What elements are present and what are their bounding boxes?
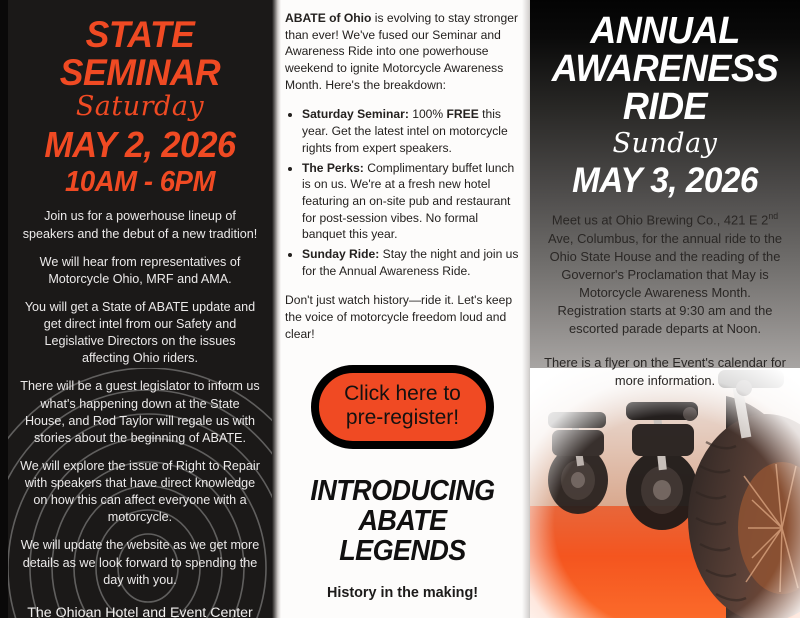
- flyer-canvas: STATE SEMINAR Saturday MAY 2, 2026 10AM …: [0, 0, 800, 618]
- bullet-label-the-perks: The Perks:: [302, 161, 364, 175]
- ride-details-part1: Meet us at Ohio Brewing Co., 421 E 2: [552, 213, 768, 228]
- left-paragraph-5: We will explore the issue of Right to Re…: [20, 458, 260, 527]
- seminar-time: 10AM - 6PM: [26, 167, 254, 197]
- pre-register-button[interactable]: Click here to pre-register!: [311, 365, 494, 449]
- intro-paragraph: ABATE of Ohio is evolving to stay strong…: [285, 10, 520, 93]
- closing-paragraph: Don't just watch history—ride it. Let's …: [285, 292, 520, 342]
- list-item: Sunday Ride: Stay the night and join us …: [302, 246, 520, 279]
- left-column-panel: STATE SEMINAR Saturday MAY 2, 2026 10AM …: [8, 0, 272, 618]
- left-paragraph-2: We will hear from representatives of Mot…: [20, 254, 260, 288]
- bullet-label-saturday-seminar: Saturday Seminar:: [302, 107, 409, 121]
- ride-details-part2: Ave, Columbus, for the annual ride to th…: [548, 231, 782, 336]
- saturday-script-label: Saturday: [20, 92, 260, 122]
- bullet-label-sunday-ride: Sunday Ride:: [302, 247, 379, 261]
- abate-legends-section: INTRODUCING ABATE LEGENDS History in the…: [285, 477, 520, 618]
- left-paragraph-1: Join us for a powerhouse lineup of speak…: [20, 208, 260, 242]
- list-item: Saturday Seminar: 100% FREE this year. G…: [302, 106, 520, 156]
- abate-legends-subheading: History in the making!: [285, 585, 520, 601]
- left-paragraph-6: We will update the website as we get mor…: [20, 537, 260, 588]
- left-paragraph-3: You will get a State of ABATE update and…: [20, 299, 260, 368]
- ride-details-paragraph: Meet us at Ohio Brewing Co., 421 E 2nd A…: [544, 210, 786, 338]
- annual-awareness-ride-heading: ANNUAL AWARENESS RIDE: [550, 12, 780, 126]
- middle-column-panel: ABATE of Ohio is evolving to stay strong…: [281, 0, 524, 618]
- motorcycle-wheels-photo: [530, 368, 800, 618]
- left-column-edge-fade: [272, 0, 281, 618]
- right-column-panel: ANNUAL AWARENESS RIDE Sunday MAY 3, 2026…: [530, 0, 800, 618]
- venue-info-block: The Ohioan Hotel and Event Center 100 Gr…: [20, 604, 260, 618]
- left-edge-strip: [0, 0, 8, 618]
- ride-details-ordinal-suffix: nd: [768, 211, 778, 221]
- left-paragraph-4: There will be a guest legislator to info…: [20, 378, 260, 447]
- abate-of-ohio-bold: ABATE of Ohio: [285, 11, 371, 25]
- prereg-button-container: Click here to pre-register!: [285, 365, 520, 449]
- flyer-note-paragraph: There is a flyer on the Event's calendar…: [544, 354, 786, 390]
- bullet-0-inline-bold: FREE: [447, 107, 479, 121]
- sunday-script-label: Sunday: [544, 129, 786, 159]
- abate-legends-heading: INTRODUCING ABATE LEGENDS: [293, 477, 512, 567]
- bullet-0-before-bold: 100%: [409, 107, 447, 121]
- breakdown-bullet-list: Saturday Seminar: 100% FREE this year. G…: [285, 106, 520, 279]
- ride-date: MAY 3, 2026: [550, 163, 780, 200]
- list-item: The Perks: Complimentary buffet lunch is…: [302, 160, 520, 243]
- seminar-date: MAY 2, 2026: [26, 126, 254, 164]
- venue-name: The Ohioan Hotel and Event Center: [20, 604, 260, 618]
- state-seminar-heading: STATE SEMINAR: [25, 16, 255, 91]
